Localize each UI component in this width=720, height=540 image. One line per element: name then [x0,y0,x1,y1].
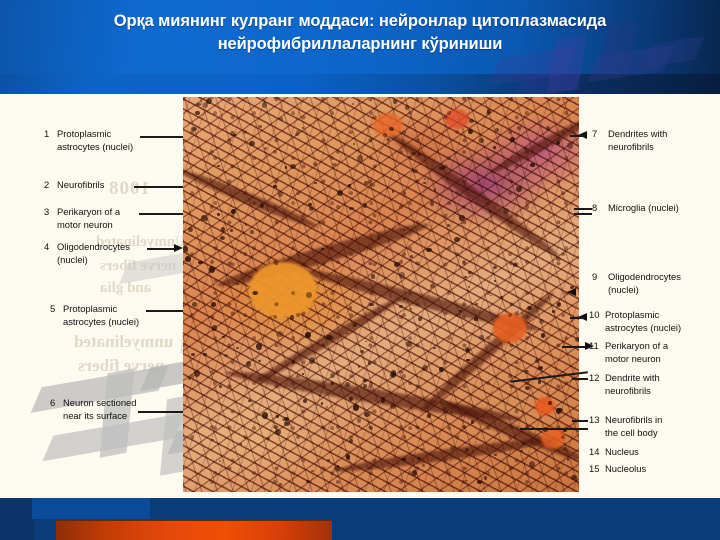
label-number: 13 [589,413,605,426]
figure-label-9: 9Oligodendrocytes (nuclei) [592,270,681,297]
glial-nucleus [443,407,447,410]
label-number: 6 [50,396,63,409]
glial-nucleus [276,415,279,418]
glial-nucleus [371,274,375,278]
glial-nucleus [450,446,455,450]
figure-label-3: 3Perikaryon of a motor neuron [44,205,120,232]
label-number: 1 [44,127,57,140]
glial-nucleus [326,406,328,408]
glial-nucleus [303,399,307,402]
glial-nucleus [411,152,415,155]
glial-nucleus [302,373,304,375]
glial-nucleus [231,209,236,214]
glial-nucleus [503,208,509,213]
glial-nucleus [412,169,418,173]
glial-nucleus [224,354,228,357]
label-number: 3 [44,205,57,218]
glial-nucleus [314,182,317,184]
glial-nucleus [563,447,567,451]
glial-nucleus [494,280,496,282]
glial-nucleus [309,206,315,211]
glial-nucleus [321,248,324,250]
footer-orange-bar [56,520,332,540]
figure-label-13: 13Neurofibrils in the cell body [589,413,662,440]
leader-line-4 [147,248,177,250]
label-text-line2: neurofibrils [592,140,667,153]
glial-nucleus [198,261,203,265]
glial-nucleus [430,284,435,288]
glial-nucleus [334,466,340,472]
label-text-line2: (nuclei) [592,283,681,296]
glial-nucleus [326,335,331,341]
glial-nucleus [517,126,521,129]
label-text: Perikaryon of a [605,340,668,351]
label-text-line2: motor neuron [44,218,120,231]
glial-nucleus [557,302,561,307]
glial-nucleus [557,408,562,412]
leader-line-8b [574,213,592,215]
glial-nucleus [346,455,351,460]
glial-nucleus [489,210,491,212]
figure-label-5: 5Protoplasmic astrocytes (nuclei) [50,302,139,329]
glial-nucleus [541,333,545,338]
glial-nucleus [352,103,355,105]
glial-nucleus [285,166,288,169]
glial-nucleus [439,367,443,372]
label-text: Neurofibrils in [605,414,662,425]
glial-nucleus [357,418,361,423]
glial-nucleus [552,310,555,313]
glial-nucleus [469,119,474,123]
glial-nucleus [185,256,191,262]
label-number: 4 [44,240,57,253]
slide-header: Орқа миянинг кулранг моддаси: нейронлар … [0,0,720,94]
glial-nucleus [426,248,432,252]
glial-nucleus [538,366,543,370]
glial-nucleus [279,483,282,485]
glial-nucleus [327,459,330,462]
glial-nucleus [191,353,195,356]
label-text-line2: motor neuron [589,352,668,365]
glial-nucleus [575,337,579,342]
glial-nucleus [305,332,310,338]
leader-line-10 [570,317,584,319]
glial-nucleus [418,153,421,156]
label-text-line2: astrocytes (nuclei) [50,315,139,328]
leader-line-13 [572,420,588,422]
glial-nucleus [433,347,435,349]
ghost-text: 1008 [108,178,150,200]
glial-nucleus [230,131,235,136]
leader-arrow-4 [174,244,183,252]
glial-nucleus [522,442,525,445]
glial-nucleus [459,215,465,220]
glial-nucleus [192,302,197,307]
label-number: 9 [592,270,608,283]
leader-arrow-9 [567,288,576,296]
glial-nucleus [330,373,335,378]
glial-nucleus [306,292,312,298]
glial-nucleus [277,331,283,336]
glial-nucleus [349,207,354,210]
glial-nucleus [266,437,270,440]
figure-label-1: 1Protoplasmic astrocytes (nuclei) [44,127,133,154]
glial-nucleus [360,350,364,354]
glial-nucleus [211,302,216,306]
glial-nucleus [422,464,425,467]
label-text: Protoplasmic [63,303,117,314]
label-text: Oligodendrocytes [57,241,130,252]
glial-nucleus [538,380,542,384]
label-text: Perikaryon of a [57,206,120,217]
label-text: Protoplasmic [605,309,659,320]
label-text: Neurofibrils [57,179,104,190]
leader-line-12 [572,378,588,380]
slide-title: Орқа миянинг кулранг моддаси: нейронлар … [40,10,680,56]
glial-nucleus [273,185,277,188]
glial-nucleus [434,188,437,191]
glial-nucleus [520,450,523,452]
glial-nucleus [402,458,405,461]
footer-accent-block [32,498,150,519]
glial-nucleus [454,237,460,242]
glial-nucleus [387,138,390,141]
glial-nucleus [203,353,206,356]
slide-footer [0,498,720,540]
glial-nucleus [196,103,201,106]
glial-nucleus [348,184,350,186]
glial-nucleus [358,365,361,368]
glial-nucleus [311,470,313,472]
label-text-line2: astrocytes (nuclei) [589,321,681,334]
glial-nucleus [188,377,191,380]
label-number: 8 [592,201,608,214]
glial-nucleus [567,142,573,149]
glial-nucleus [412,470,417,475]
label-text: Neuron sectioned [63,397,137,408]
leader-line-6 [138,411,183,413]
glial-nucleus [471,420,474,423]
glial-nucleus [410,255,413,258]
glial-nucleus [306,480,310,483]
glial-nucleus [465,347,470,351]
glial-nucleus [313,162,317,166]
glial-nucleus [353,404,359,411]
glial-nucleus [363,379,368,382]
glial-nucleus [409,308,412,310]
glial-nucleus [548,401,552,405]
glial-nucleus [262,412,268,419]
glial-nucleus [212,325,217,331]
glial-nucleus [236,283,239,285]
label-number: 5 [50,302,63,315]
glial-nucleus [357,155,363,161]
glial-nucleus [530,163,535,167]
glial-nucleus [353,143,355,145]
ghost-text: unmyelinated [74,332,173,352]
leader-line-3 [139,213,183,215]
glial-nucleus [284,421,290,426]
glial-nucleus [424,178,426,180]
glial-nucleus [209,266,215,273]
glial-nucleus [370,183,375,187]
figure-label-14: 14Nucleus [589,445,639,458]
glial-nucleus [465,448,469,452]
glial-nucleus [406,341,412,347]
glial-nucleus [479,335,485,340]
glial-nucleus [524,147,527,149]
glial-nucleus [405,105,409,109]
glial-nucleus [464,276,467,278]
glial-nucleus [422,365,428,371]
glial-nucleus [556,257,561,261]
label-text: Oligodendrocytes [608,271,681,282]
glial-nucleus [525,370,528,372]
label-text-line2: astrocytes (nuclei) [44,140,133,153]
glial-nucleus [500,296,503,299]
figure-label-12: 12Dendrite with neurofibrils [589,371,660,398]
label-text-line2: neurofibrils [589,384,660,397]
figure-label-10: 10Protoplasmic astrocytes (nuclei) [589,308,681,335]
leader-line-8a [574,208,592,210]
figure-label-7: 7Dendrites with neurofibrils [592,127,667,154]
figure-label-8: 8Microglia (nuclei) [592,201,679,214]
glial-nucleus [245,223,247,226]
glial-nucleus [290,164,296,170]
glial-nucleus [221,227,225,232]
glial-nucleus [495,128,499,132]
glial-nucleus [262,102,267,107]
glial-nucleus [484,476,487,479]
glial-nucleus [394,262,399,267]
figure-label-11: 11Perikaryon of a motor neuron [589,339,668,366]
leader-line-14 [520,428,588,430]
label-text-line2: the cell body [589,426,662,439]
label-text: Protoplasmic [57,128,111,139]
label-text: Nucleolus [605,463,646,474]
leader-line-7 [570,135,586,137]
figure-page: 1008 Unmyelinated nerve fibers and glia … [0,94,720,498]
glial-nucleus [278,191,283,196]
glial-nucleus [510,137,515,142]
leader-line-1 [140,136,183,138]
glial-nucleus [256,343,262,349]
figure-label-6: 6Neuron sectioned near its surface [50,396,137,423]
figure-label-15: 15Nucleolus [589,462,646,475]
glial-nucleus [390,372,396,378]
glial-nucleus [539,319,544,324]
slide: Орқа миянинг кулранг моддаси: нейронлар … [0,0,720,540]
glial-nucleus [403,297,406,300]
glial-nucleus [468,129,473,133]
label-text: Dendrite with [605,372,660,383]
glial-nucleus [358,425,360,427]
glial-nucleus [399,305,403,308]
micrograph-image [183,97,579,492]
glial-nucleus [195,111,199,115]
label-number: 2 [44,178,57,191]
label-text: Microglia (nuclei) [608,202,679,213]
label-number: 14 [589,445,605,458]
figure-label-4: 4Oligodendrocytes (nuclei) [44,240,130,267]
figure-label-2: 2Neurofibrils [44,178,104,191]
glial-nucleus [450,411,452,413]
label-text-line2: (nuclei) [44,253,130,266]
label-number: 15 [589,462,605,475]
label-number: 10 [589,308,605,321]
nuclei-speckle-texture [183,97,579,492]
glial-nucleus [353,323,357,327]
footer-side-block [0,498,34,540]
label-number: 12 [589,371,605,384]
glial-nucleus [217,213,220,215]
label-number: 7 [592,127,608,140]
leader-line-2 [134,186,183,188]
glial-nucleus [201,215,206,221]
glial-nucleus [412,434,414,436]
glial-nucleus [567,458,569,461]
glial-nucleus [418,317,422,320]
glial-nucleus [381,397,386,402]
glial-nucleus [183,246,188,252]
label-text: Dendrites with [608,128,667,139]
glial-nucleus [214,279,217,282]
label-text-line2: near its surface [50,409,137,422]
leader-line-5 [146,310,183,312]
glial-nucleus [421,448,424,450]
label-number: 11 [589,339,605,352]
label-text: Nucleus [605,446,639,457]
glial-nucleus [275,429,281,434]
glial-nucleus [516,186,521,191]
glial-nucleus [487,109,492,114]
